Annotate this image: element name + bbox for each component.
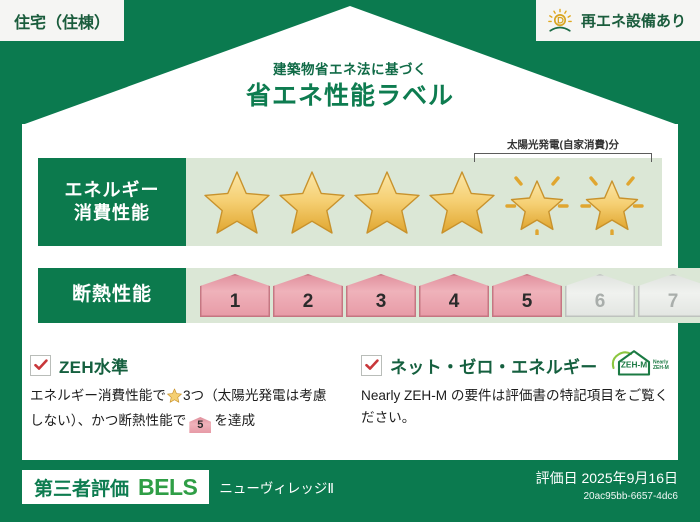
housing-type-badge: 住宅（住棟） (0, 0, 124, 41)
checkbox-checked-icon (361, 355, 382, 376)
criterion-title: ネット・ゼロ・エネルギー (390, 353, 598, 378)
energy-performance-value: 太陽光発電(自家消費)分 (186, 158, 662, 246)
criterion-description: Nearly ZEH-M の要件は評価書の特記項目をご覧ください。 (361, 385, 670, 429)
insulation-performance-row: 断熱性能 1 2 3 4 5 6 7 (38, 268, 662, 323)
star-solar (500, 165, 573, 239)
insulation-grade-number: 6 (595, 291, 606, 313)
footer-right: 評価日 2025年9月16日 20ac95bb-6657-4dc6 (536, 468, 678, 502)
insulation-grade: 1 (200, 274, 270, 317)
renewable-badge-label: 再エネ設備あり (581, 10, 686, 31)
insulation-grade-scale: 1 2 3 4 5 6 7 (186, 274, 700, 317)
criterion-desc-part-3: を達成 (214, 413, 255, 428)
energy-performance-row: エネルギー 消費性能 (38, 158, 662, 246)
label-subtitle: 建築物省エネ法に基づく (0, 62, 700, 78)
energy-key-line-1: エネルギー (65, 179, 160, 202)
criterion-zeh-standard: ZEH水準 エネルギー消費性能で3つ（太陽光発電は考慮しない）、かつ断熱性能で5… (30, 352, 339, 448)
insulation-grade: 4 (419, 274, 489, 317)
renewable-equipment-badge: 再エネ設備あり (536, 0, 700, 41)
insulation-performance-key: 断熱性能 (38, 268, 186, 323)
star-filled (425, 165, 498, 239)
title-block: 建築物省エネ法に基づく 省エネ性能ラベル (0, 62, 700, 112)
star-filled (200, 165, 273, 239)
insulation-grade-number: 2 (303, 291, 314, 313)
insulation-grade-number: 7 (668, 291, 679, 313)
housing-type-label: 住宅（住棟） (14, 9, 110, 33)
insulation-performance-value: 1 2 3 4 5 6 7 (186, 268, 700, 323)
star-icon (167, 391, 182, 406)
evaluation-date: 評価日 2025年9月16日 (536, 468, 678, 488)
criterion-desc-part-1: エネルギー消費性能で (30, 388, 166, 403)
insulation-grade-number: 5 (522, 291, 533, 313)
energy-key-line-2: 消費性能 (74, 202, 150, 225)
criterion-header: ZEH水準 (30, 352, 339, 378)
footer-bar: 第三者評価 BELS ニューヴィレッジⅡ 評価日 2025年9月16日 20ac… (0, 460, 700, 522)
star-solar (575, 165, 648, 239)
project-name: ニューヴィレッジⅡ (219, 477, 334, 497)
insulation-grade: 3 (346, 274, 416, 317)
criteria-section: ZEH水準 エネルギー消費性能で3つ（太陽光発電は考慮しない）、かつ断熱性能で5… (30, 352, 670, 448)
energy-performance-label: 住宅（住棟） 再エネ設備あり 建築物省エネ法に基づく (0, 0, 700, 522)
bels-mark: BELS (138, 474, 197, 501)
checkbox-checked-icon (30, 355, 51, 376)
star-filled (350, 165, 423, 239)
svg-text:ZEH-M: ZEH-M (620, 359, 646, 369)
criterion-header: ネット・ゼロ・エネルギー ZEH-M Nearly ZEH-M (361, 352, 670, 378)
criterion-title: ZEH水準 (59, 353, 129, 378)
insulation-grade: 5 (492, 274, 562, 317)
insulation-grade-number: 1 (230, 291, 241, 313)
sun-renewable-icon (546, 8, 574, 34)
insulation-grade: 6 (565, 274, 635, 317)
third-party-evaluation-label: 第三者評価 (34, 474, 129, 501)
inline-insulation-grade-badge: 5 (189, 417, 211, 433)
bels-certification-box: 第三者評価 BELS (22, 470, 209, 504)
svg-text:ZEH-M: ZEH-M (653, 365, 669, 371)
evaluation-id: 20ac95bb-6657-4dc6 (536, 491, 678, 502)
criterion-description: エネルギー消費性能で3つ（太陽光発電は考慮しない）、かつ断熱性能で5を達成 (30, 385, 339, 433)
energy-performance-key: エネルギー 消費性能 (38, 158, 186, 246)
insulation-grade-number: 4 (449, 291, 460, 313)
star-filled (275, 165, 348, 239)
criterion-net-zero-energy: ネット・ゼロ・エネルギー ZEH-M Nearly ZEH-M Nearly Z… (361, 352, 670, 448)
insulation-grade: 2 (273, 274, 343, 317)
insulation-grade-number: 3 (376, 291, 387, 313)
zeh-m-logo-icon: ZEH-M Nearly ZEH-M (610, 348, 670, 383)
insulation-grade: 7 (638, 274, 700, 317)
star-rating (186, 165, 662, 239)
label-title: 省エネ性能ラベル (0, 81, 700, 112)
footer-left: 第三者評価 BELS ニューヴィレッジⅡ (22, 470, 334, 504)
